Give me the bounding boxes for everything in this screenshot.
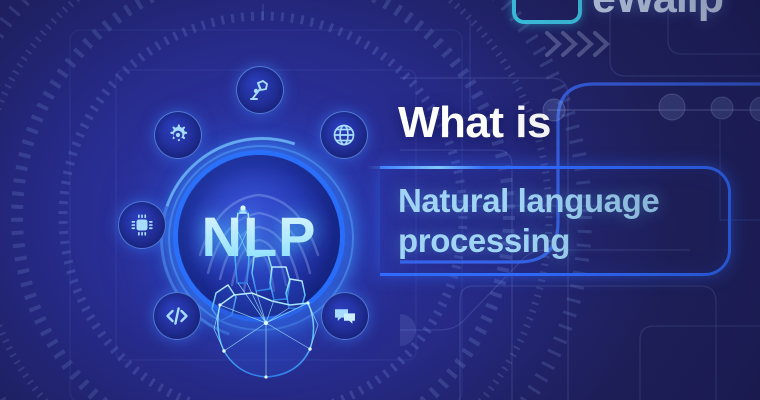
brand-logo[interactable]: eWallp xyxy=(512,0,723,22)
satellite-gear[interactable] xyxy=(154,111,202,159)
chat-bubbles-icon xyxy=(332,303,358,329)
screen-logo-icon xyxy=(512,0,582,24)
globe-icon xyxy=(331,122,357,148)
network-nodes-icon xyxy=(540,88,760,128)
chevron-arrows-icon xyxy=(543,28,619,60)
satellite-globe[interactable] xyxy=(320,111,368,159)
page-title: What is xyxy=(398,100,551,146)
robot-arm-icon xyxy=(247,77,273,103)
nlp-orb-cluster: NLP xyxy=(108,55,403,365)
satellite-robot-arm[interactable] xyxy=(236,66,284,114)
nlp-label: NLP xyxy=(178,155,340,317)
subtitle-text: Natural language processing xyxy=(398,181,728,262)
brand-name: eWallp xyxy=(592,0,723,20)
gear-icon xyxy=(165,122,191,148)
satellite-chat[interactable] xyxy=(321,292,369,340)
satellite-chip[interactable] xyxy=(118,201,166,249)
code-icon xyxy=(164,303,190,329)
satellite-code[interactable] xyxy=(153,292,201,340)
promo-banner: eWallp xyxy=(0,0,760,400)
chip-icon xyxy=(129,212,155,238)
